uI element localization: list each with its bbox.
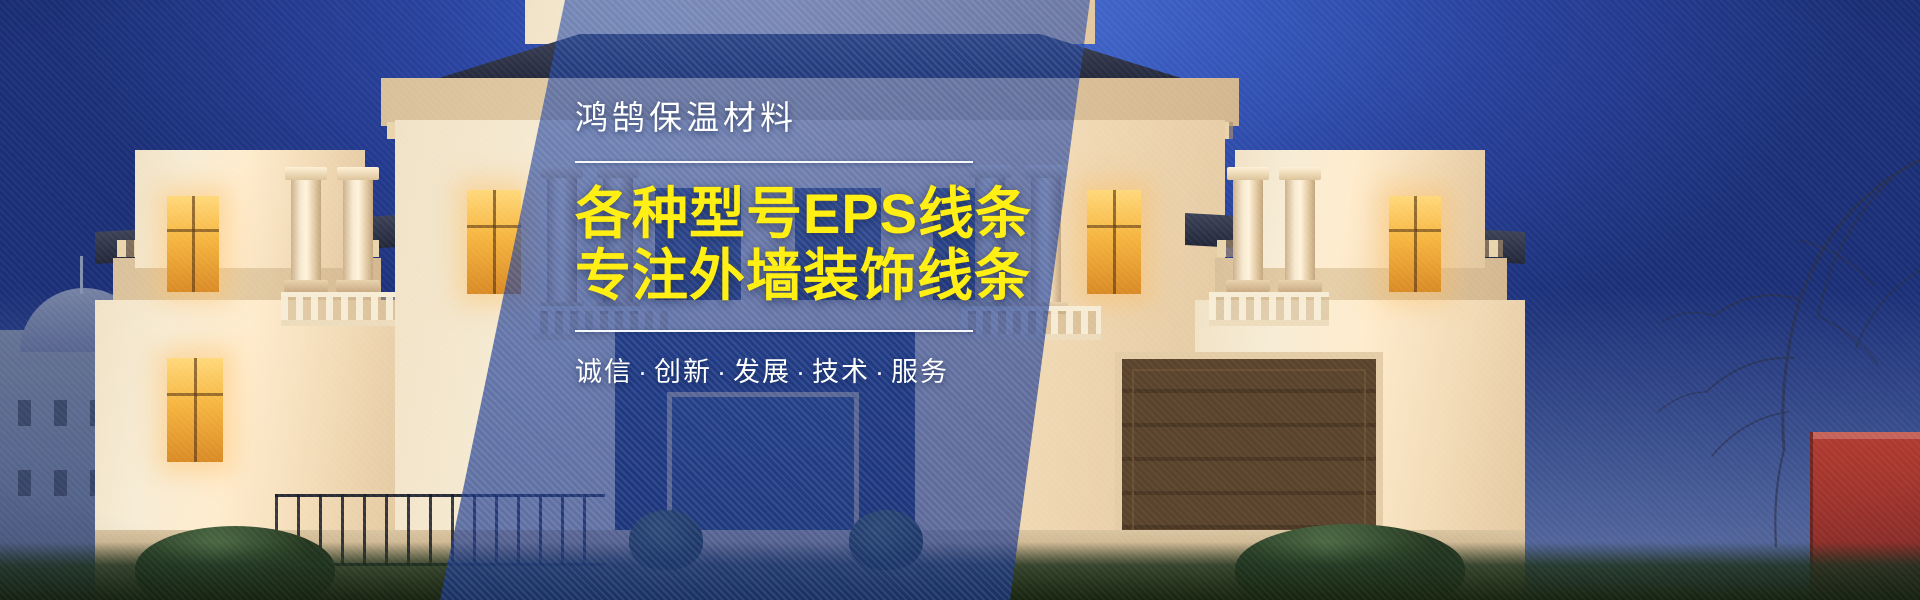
upper-wall-right-wing xyxy=(1235,150,1485,268)
column xyxy=(1233,178,1263,282)
divider-top xyxy=(575,161,973,163)
far-window xyxy=(18,470,31,496)
far-window xyxy=(18,400,31,426)
tagline-item: 诚信 xyxy=(575,357,633,387)
spire xyxy=(80,256,83,294)
balustrade xyxy=(1209,292,1329,326)
tagline-item: 创新 xyxy=(654,357,712,387)
tagline-item: 发展 xyxy=(733,357,791,387)
column xyxy=(291,178,321,282)
balustrade xyxy=(281,292,401,326)
column xyxy=(1285,178,1315,282)
tagline-separator: · xyxy=(712,357,733,387)
lit-window xyxy=(1087,190,1141,294)
far-window xyxy=(54,400,67,426)
tagline-separator: · xyxy=(791,357,812,387)
column xyxy=(343,178,373,282)
lit-window xyxy=(1389,196,1441,292)
divider-bottom xyxy=(575,330,973,332)
tagline: 诚信·创新·发展·技术·服务 xyxy=(575,350,1095,389)
lit-window xyxy=(167,196,219,292)
tagline-separator: · xyxy=(870,357,891,387)
lit-window xyxy=(167,358,223,462)
banner-copy: 鸿鹄保温材料 各种型号EPS线条 专注外墙装饰线条 诚信·创新·发展·技术·服务 xyxy=(575,98,1095,389)
far-window xyxy=(54,470,67,496)
tagline-separator: · xyxy=(633,357,654,387)
headline-line-2: 专注外墙装饰线条 xyxy=(575,245,1095,308)
headline-line-1: 各种型号EPS线条 xyxy=(575,183,1095,246)
company-name: 鸿鹄保温材料 xyxy=(575,98,1095,138)
tagline-item: 技术 xyxy=(812,357,870,387)
tagline-item: 服务 xyxy=(891,357,949,387)
promo-banner: 鸿鹄保温材料 各种型号EPS线条 专注外墙装饰线条 诚信·创新·发展·技术·服务 xyxy=(0,0,1920,600)
